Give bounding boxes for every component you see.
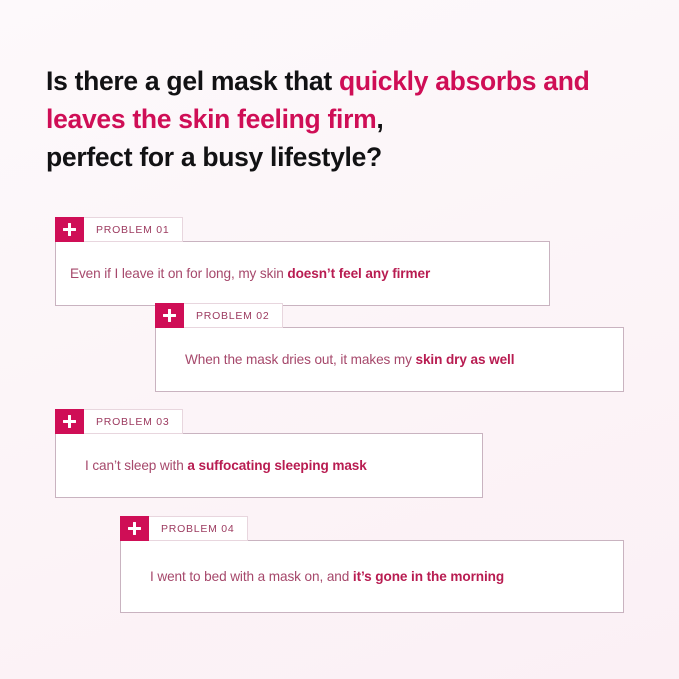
problem-card-03: I can’t sleep with a suffocating sleepin… xyxy=(55,433,483,498)
problem-block-01: PROBLEM 01 Even if I leave it on for lon… xyxy=(55,217,550,306)
problem-text-03: I can’t sleep with a suffocating sleepin… xyxy=(85,458,367,473)
problem-text-bold-03: a suffocating sleeping mask xyxy=(187,458,366,473)
problem-text-bold-01: doesn’t feel any firmer xyxy=(287,266,430,281)
problem-text-bold-04: it’s gone in the morning xyxy=(353,569,504,584)
problem-tab-04[interactable]: PROBLEM 04 xyxy=(120,516,248,541)
problem-card-01: Even if I leave it on for long, my skin … xyxy=(55,241,550,306)
problem-tab-03[interactable]: PROBLEM 03 xyxy=(55,409,183,434)
problem-label-01: PROBLEM 01 xyxy=(84,217,183,242)
plus-icon xyxy=(128,522,141,535)
problem-text-04: I went to bed with a mask on, and it’s g… xyxy=(150,569,504,584)
problem-block-02: PROBLEM 02 When the mask dries out, it m… xyxy=(155,303,624,392)
problem-label-04: PROBLEM 04 xyxy=(149,516,248,541)
problem-label-03: PROBLEM 03 xyxy=(84,409,183,434)
problem-text-plain-01: Even if I leave it on for long, my skin xyxy=(70,266,287,281)
problem-badge-03 xyxy=(55,409,84,434)
problem-badge-04 xyxy=(120,516,149,541)
plus-icon xyxy=(63,223,76,236)
problem-text-plain-03: I can’t sleep with xyxy=(85,458,187,473)
problem-card-04: I went to bed with a mask on, and it’s g… xyxy=(120,540,624,613)
problem-badge-01 xyxy=(55,217,84,242)
problem-badge-02 xyxy=(155,303,184,328)
headline-part-1: Is there a gel mask that xyxy=(46,66,339,96)
problem-text-02: When the mask dries out, it makes my ski… xyxy=(185,352,514,367)
plus-icon xyxy=(163,309,176,322)
problem-card-02: When the mask dries out, it makes my ski… xyxy=(155,327,624,392)
problem-tab-02[interactable]: PROBLEM 02 xyxy=(155,303,283,328)
problem-tab-01[interactable]: PROBLEM 01 xyxy=(55,217,183,242)
page-headline: Is there a gel mask that quickly absorbs… xyxy=(46,62,646,176)
problem-block-03: PROBLEM 03 I can’t sleep with a suffocat… xyxy=(55,409,483,498)
problem-label-02: PROBLEM 02 xyxy=(184,303,283,328)
problem-text-plain-02: When the mask dries out, it makes my xyxy=(185,352,416,367)
product-problem-infographic: Is there a gel mask that quickly absorbs… xyxy=(0,0,679,679)
headline-part-3: perfect for a busy lifestyle? xyxy=(46,142,382,172)
problem-text-01: Even if I leave it on for long, my skin … xyxy=(70,266,430,281)
problem-text-plain-04: I went to bed with a mask on, and xyxy=(150,569,353,584)
problem-block-04: PROBLEM 04 I went to bed with a mask on,… xyxy=(120,516,624,613)
plus-icon xyxy=(63,415,76,428)
headline-part-2: , xyxy=(376,104,383,134)
problem-text-bold-02: skin dry as well xyxy=(416,352,515,367)
